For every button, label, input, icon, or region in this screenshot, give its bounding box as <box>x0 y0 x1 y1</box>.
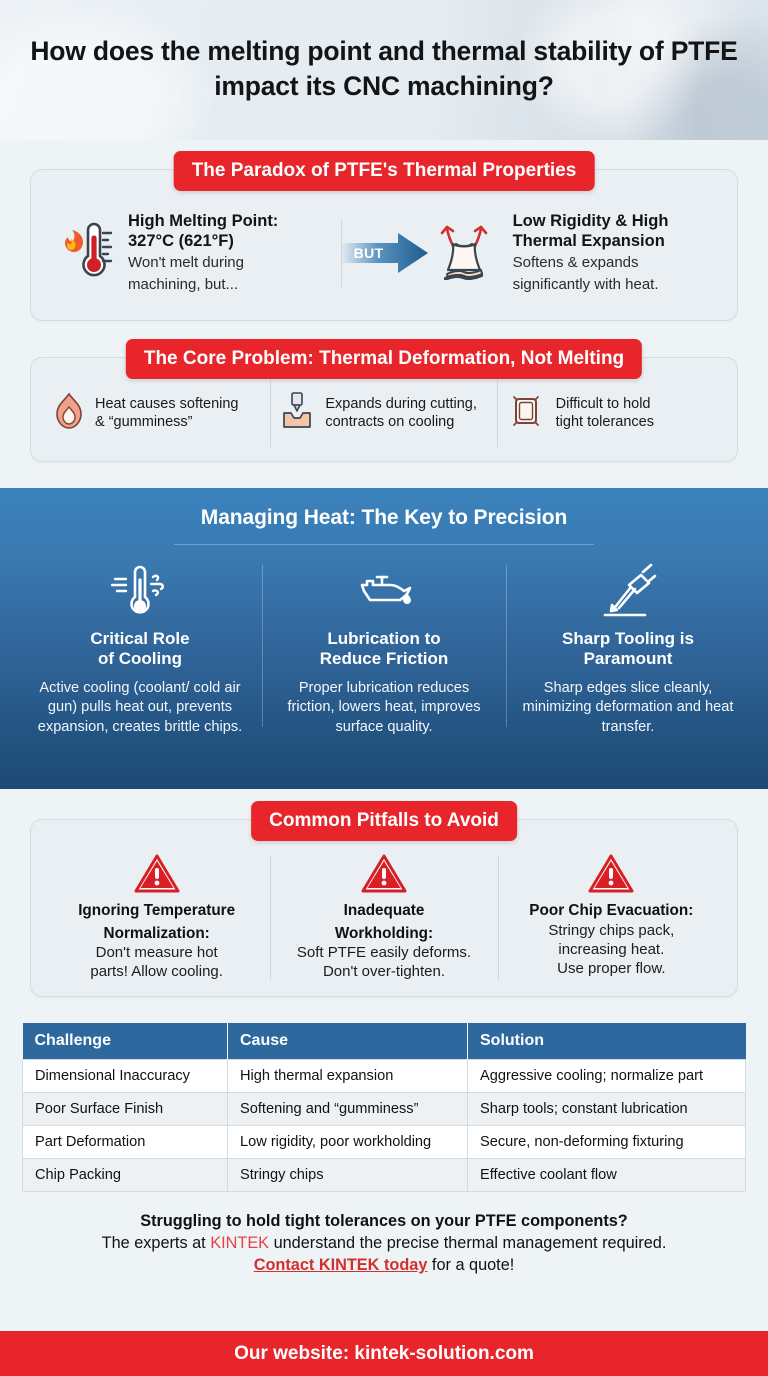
paradox-right-heading-line1: Low Rigidity & High <box>513 211 669 231</box>
cooling-thermometer-icon <box>32 561 248 623</box>
mh-col-3-heading-line2: Paramount <box>584 649 673 668</box>
table-row: Poor Surface Finish Softening and “gummi… <box>23 1093 746 1126</box>
paradox-right-sub-line1: Softens & expands <box>513 254 669 273</box>
summary-table: Challenge Cause Solution Dimensional Ina… <box>22 1023 746 1192</box>
table-cell: Part Deformation <box>23 1126 228 1159</box>
core-problem-item: Expands during cutting, contracts on coo… <box>271 391 496 436</box>
mh-col-3-body: Sharp edges slice cleanly, minimizing de… <box>520 679 736 737</box>
pitfall-1-body-line2: parts! Allow cooling. <box>55 963 258 981</box>
cnc-cutter-icon <box>280 391 314 436</box>
footer-bar: Our website: kintek-solution.com <box>0 1331 768 1376</box>
core-problem-item: Heat causes softening & “gumminess” <box>45 392 270 435</box>
managing-heat-rule <box>174 544 594 545</box>
core-item-1-line2: & “gumminess” <box>95 414 238 432</box>
paradox-left-item: High Melting Point: 327°C (621°F) Won't … <box>49 211 341 295</box>
but-label: BUT <box>342 245 384 261</box>
pitfall-3-title-line1: Poor Chip Evacuation: <box>510 902 713 921</box>
but-connector: BUT <box>342 231 428 275</box>
table-cell: Chip Packing <box>23 1159 228 1192</box>
pitfall-item: Poor Chip Evacuation: Stringy chips pack… <box>498 850 725 986</box>
pitfalls-banner: Common Pitfalls to Avoid <box>251 801 517 841</box>
table-cell: Dimensional Inaccuracy <box>23 1060 228 1093</box>
pitfall-1-title-line2: Normalization: <box>55 925 258 944</box>
pitfall-2-body-line1: Soft PTFE easily deforms. <box>282 944 485 962</box>
flame-icon <box>54 392 84 435</box>
table-cell: Sharp tools; constant lubrication <box>468 1093 746 1126</box>
managing-heat-column: Sharp Tooling is Paramount Sharp edges s… <box>506 561 750 737</box>
cta-line-2-pre: The experts at <box>102 1234 211 1252</box>
core-item-3-line1: Difficult to hold <box>556 396 654 414</box>
cta-block: Struggling to hold tight tolerances on y… <box>0 1212 768 1275</box>
table-row: Dimensional Inaccuracy High thermal expa… <box>23 1060 746 1093</box>
table-cell: High thermal expansion <box>228 1060 468 1093</box>
paradox-left-heading-line2: 327°C (621°F) <box>128 231 278 251</box>
paradox-right-heading-line2: Thermal Expansion <box>513 231 669 251</box>
mh-col-2-heading-line1: Lubrication to <box>327 629 440 648</box>
cta-brand: KINTEK <box>210 1234 269 1252</box>
table-cell: Aggressive cooling; normalize part <box>468 1060 746 1093</box>
pitfall-3-body-line1: increasing heat. <box>510 941 713 959</box>
pitfall-3-body-line2: Use proper flow. <box>510 960 713 978</box>
core-item-3-line2: tight tolerances <box>556 414 654 432</box>
cta-line-3-post: for a quote! <box>427 1256 514 1274</box>
table-header-solution: Solution <box>468 1023 746 1060</box>
paradox-card: The Paradox of PTFE's Thermal Properties <box>30 169 738 321</box>
table-cell: Stringy chips <box>228 1159 468 1192</box>
mh-col-1-body: Active cooling (coolant/ cold air gun) p… <box>32 679 248 737</box>
table-cell: Softening and “gumminess” <box>228 1093 468 1126</box>
infographic-page: How does the melting point and thermal s… <box>0 0 768 1376</box>
table-header-cause: Cause <box>228 1023 468 1060</box>
warning-triangle-icon <box>510 850 713 898</box>
paradox-banner: The Paradox of PTFE's Thermal Properties <box>174 151 595 191</box>
paradox-left-sub-line1: Won't melt during <box>128 254 278 273</box>
managing-heat-section: Managing Heat: The Key to Precision <box>0 488 768 789</box>
mh-col-1-heading-line1: Critical Role <box>90 629 189 648</box>
core-problem-banner: The Core Problem: Thermal Deformation, N… <box>126 339 642 379</box>
tolerance-square-icon <box>507 392 545 435</box>
pitfalls-card: Common Pitfalls to Avoid Ignoring Temper… <box>30 819 738 997</box>
table-cell: Low rigidity, poor workholding <box>228 1126 468 1159</box>
managing-heat-column: Critical Role of Cooling Active cooling … <box>18 561 262 737</box>
managing-heat-column: Lubrication to Reduce Friction Proper lu… <box>262 561 506 737</box>
core-problem-card: The Core Problem: Thermal Deformation, N… <box>30 357 738 462</box>
contact-kintek-link[interactable]: Contact KINTEK today <box>254 1256 428 1274</box>
hero-banner: How does the melting point and thermal s… <box>0 0 768 140</box>
core-problem-item: Difficult to hold tight tolerances <box>498 392 723 435</box>
table-row: Part Deformation Low rigidity, poor work… <box>23 1126 746 1159</box>
pitfall-2-body-line2: Don't over-tighten. <box>282 963 485 981</box>
core-item-2-line1: Expands during cutting, <box>325 396 477 414</box>
warning-triangle-icon <box>55 850 258 898</box>
footer-website: Our website: kintek-solution.com <box>234 1343 534 1365</box>
cta-line-2-post: understand the precise thermal managemen… <box>269 1234 666 1252</box>
mh-col-1-heading-line2: of Cooling <box>98 649 182 668</box>
paradox-right-sub-line2: significantly with heat. <box>513 276 669 295</box>
pitfall-1-body-line1: Don't measure hot <box>55 944 258 962</box>
oil-can-icon <box>276 561 492 623</box>
core-item-1-line1: Heat causes softening <box>95 396 238 414</box>
pitfall-2-title-line2: Workholding: <box>282 925 485 944</box>
mh-col-2-heading-line2: Reduce Friction <box>320 649 448 668</box>
table-row: Chip Packing Stringy chips Effective coo… <box>23 1159 746 1192</box>
mh-col-2-body: Proper lubrication reduces friction, low… <box>276 679 492 737</box>
pitfall-1-title-line1: Ignoring Temperature <box>55 902 258 921</box>
sharp-tool-icon <box>520 561 736 623</box>
mh-col-3-heading-line1: Sharp Tooling is <box>562 629 694 648</box>
core-item-2-line2: contracts on cooling <box>325 414 477 432</box>
managing-heat-title: Managing Heat: The Key to Precision <box>18 506 750 530</box>
paradox-left-sub-line2: machining, but... <box>128 276 278 295</box>
table-cell: Poor Surface Finish <box>23 1093 228 1126</box>
pitfall-item: Inadequate Workholding: Soft PTFE easily… <box>270 850 497 986</box>
page-title: How does the melting point and thermal s… <box>0 0 768 104</box>
thermometer-flame-icon <box>57 220 115 287</box>
pitfall-item: Ignoring Temperature Normalization: Don'… <box>43 850 270 986</box>
table-cell: Effective coolant flow <box>468 1159 746 1192</box>
warning-triangle-icon <box>282 850 485 898</box>
cta-line-1: Struggling to hold tight tolerances on y… <box>24 1212 744 1231</box>
pitfall-2-title-line1: Inadequate <box>282 902 485 921</box>
paradox-left-heading-line1: High Melting Point: <box>128 211 278 231</box>
table-header-row: Challenge Cause Solution <box>23 1023 746 1060</box>
paradox-right-item: Low Rigidity & High Thermal Expansion So… <box>428 211 719 295</box>
table-cell: Secure, non-deforming fixturing <box>468 1126 746 1159</box>
pitfall-3-title-line2: Stringy chips pack, <box>510 922 713 940</box>
cta-line-3: Contact KINTEK today for a quote! <box>24 1256 744 1275</box>
expanding-block-icon <box>428 222 500 285</box>
cta-line-2: The experts at KINTEK understand the pre… <box>24 1234 744 1253</box>
table-header-challenge: Challenge <box>23 1023 228 1060</box>
